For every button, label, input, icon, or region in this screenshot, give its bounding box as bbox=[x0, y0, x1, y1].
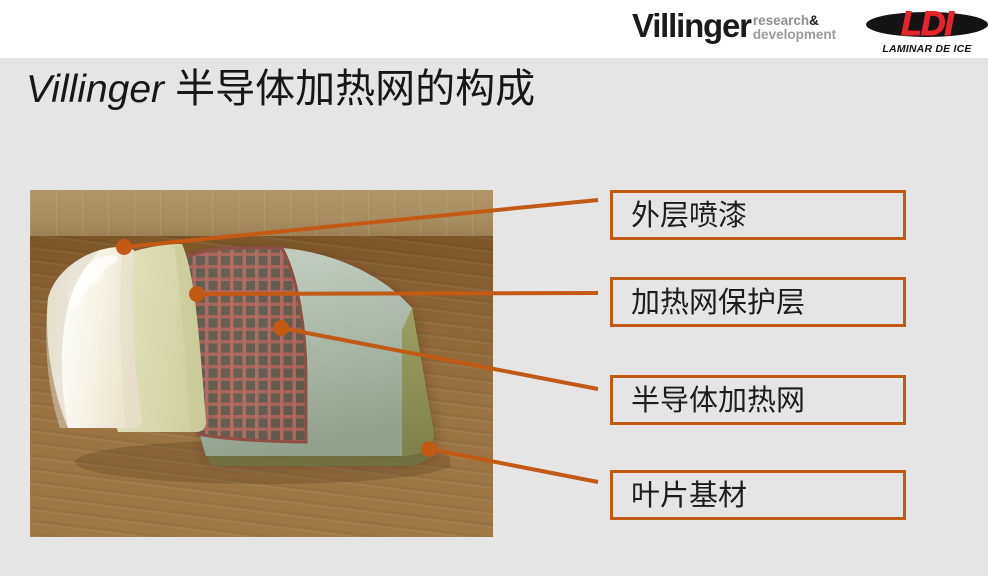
callout-mesh-protection[interactable]: 加热网保护层 bbox=[610, 277, 906, 327]
villinger-wordmark: Villinger bbox=[632, 8, 751, 44]
ldi-monogram: LDI bbox=[866, 3, 988, 45]
callout-blade-substrate[interactable]: 叶片基材 bbox=[610, 470, 906, 520]
callout-label-mesh-protection: 加热网保护层 bbox=[631, 285, 805, 319]
slide-canvas: Villinger research& development LDI LAMI… bbox=[0, 0, 988, 576]
ldi-logo: LDI LAMINAR DE ICE bbox=[866, 3, 988, 55]
blade-sample-illustration bbox=[30, 190, 450, 490]
villinger-tagline: research& development bbox=[753, 14, 836, 42]
callout-label-semiconductor-mesh: 半导体加热网 bbox=[631, 383, 805, 417]
villinger-tagline-line1: research bbox=[753, 13, 809, 28]
callout-label-blade-substrate: 叶片基材 bbox=[631, 478, 747, 512]
callout-semiconductor-mesh[interactable]: 半导体加热网 bbox=[610, 375, 906, 425]
villinger-tagline-ampersand: & bbox=[809, 13, 819, 28]
villinger-tagline-line2: development bbox=[753, 28, 836, 42]
page-title: Villinger 半导体加热网的构成 bbox=[26, 62, 535, 117]
callout-outer-paint[interactable]: 外层喷漆 bbox=[610, 190, 906, 240]
page-title-cjk: 半导体加热网的构成 bbox=[175, 66, 535, 112]
blade-cross-section-photo bbox=[30, 190, 493, 537]
page-title-latin: Villinger bbox=[26, 68, 164, 111]
ldi-tagline: LAMINAR DE ICE bbox=[866, 43, 988, 55]
villinger-logo: Villinger research& development bbox=[632, 8, 836, 52]
callout-label-outer-paint: 外层喷漆 bbox=[631, 198, 747, 232]
header-band bbox=[0, 0, 988, 58]
